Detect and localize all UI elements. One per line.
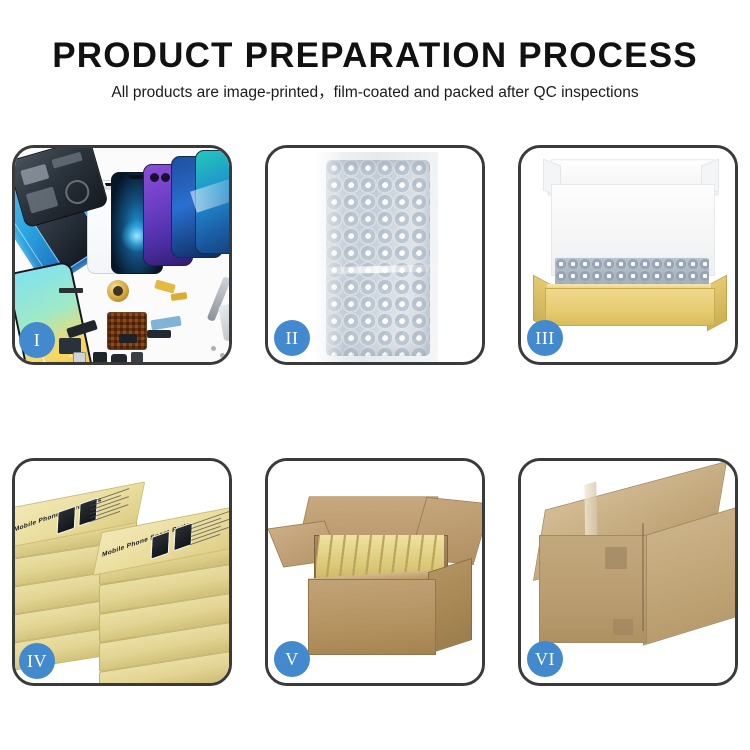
box-spec-lines — [89, 486, 135, 528]
speaker-bar-icon — [59, 288, 83, 293]
wrap-gloss — [316, 148, 344, 362]
product-preparation-infographic: PRODUCT PREPARATION PROCESS All products… — [0, 0, 750, 750]
battery-icon — [26, 187, 58, 214]
chip-icon — [51, 152, 82, 169]
step-badge-1: I — [19, 322, 55, 358]
sim-tray-icon — [73, 352, 86, 362]
camera-module-icon — [131, 352, 143, 362]
step-panel-4: Mobile Phone Spare Parts Mobile Phone Sp… — [12, 458, 232, 686]
flex-cable-icon — [147, 330, 171, 338]
screws-icon — [211, 344, 229, 360]
carton-flap-tab — [605, 547, 627, 569]
box-spec-lines — [189, 509, 229, 551]
carton-corner-seam — [642, 523, 644, 631]
page-title: PRODUCT PREPARATION PROCESS — [0, 0, 750, 73]
pry-tool-icon — [218, 303, 229, 342]
flex-cable-icon — [154, 279, 176, 293]
chip-icon — [20, 164, 49, 186]
camera-ring-icon — [62, 177, 92, 207]
step-badge-2: II — [274, 320, 310, 356]
process-steps-grid: I II III — [12, 145, 738, 687]
camera-module-icon — [93, 352, 107, 362]
flex-cable-icon — [150, 316, 181, 331]
copper-coil-icon — [107, 280, 129, 302]
step-panel-5: V — [265, 458, 485, 686]
connector-grid-icon — [107, 312, 147, 350]
camera-module-icon — [111, 354, 127, 362]
step-badge-4: IV — [19, 643, 55, 679]
step-panel-2: II — [265, 145, 485, 365]
step-badge-6: VI — [527, 641, 563, 677]
carton-flap-tab — [613, 619, 633, 635]
header: PRODUCT PREPARATION PROCESS All products… — [0, 0, 750, 101]
step-badge-5: V — [274, 641, 310, 677]
carton-front-panel — [308, 579, 436, 655]
page-subtitle: All products are image-printed，film-coat… — [0, 73, 750, 101]
earpiece-speaker-icon — [119, 334, 137, 343]
inner-box-front-wall — [545, 288, 715, 326]
step-badge-3: III — [527, 320, 563, 356]
step-panel-6: VI — [518, 458, 738, 686]
step-panel-1: I — [12, 145, 232, 365]
flex-cable-icon — [171, 292, 188, 301]
step-panel-3: III — [518, 145, 738, 365]
phone-screen-teal-icon — [195, 150, 229, 254]
